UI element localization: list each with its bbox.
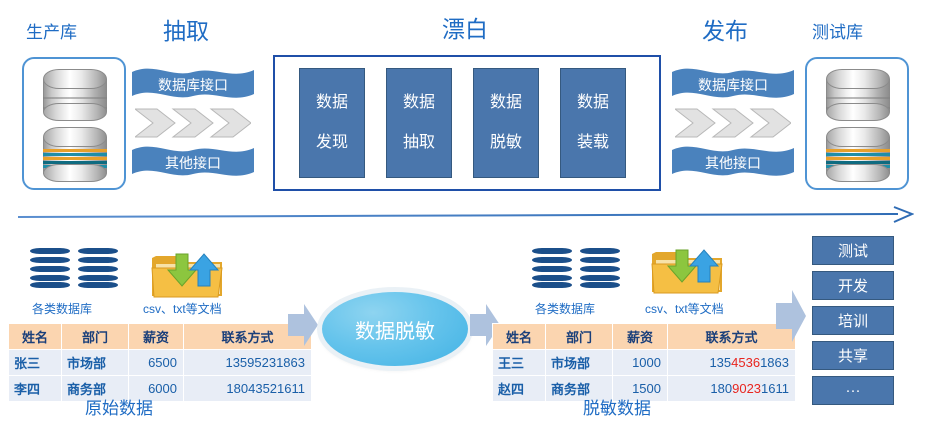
consumer-button-share[interactable]: 共享 [812, 341, 894, 370]
masked-phone-masked-1: 9023 [732, 381, 761, 396]
bleach-stage-extract[interactable]: 数据 抽取 [386, 68, 452, 178]
consumer-button-test[interactable]: 测试 [812, 236, 894, 265]
extract-db-interface-ribbon: 数据库接口 [132, 66, 254, 102]
masked-phone-prefix-1: 180 [710, 381, 732, 396]
test-database-cylinder-plain [826, 69, 890, 121]
source-caption: 原始数据 [85, 400, 153, 417]
arrow-into-masking [288, 304, 318, 346]
table-row: 李四 商务部 6000 18043521611 [9, 376, 312, 402]
masked-table-header-row: 姓名 部门 薪资 联系方式 [493, 324, 796, 350]
source-flat-db-icon-2 [78, 248, 118, 290]
source-th-dept: 部门 [62, 324, 129, 350]
title-production-db: 生产库 [26, 24, 77, 41]
publish-other-interface-ribbon: 其他接口 [672, 144, 794, 180]
source-th-salary: 薪资 [129, 324, 184, 350]
publish-db-interface-ribbon: 数据库接口 [672, 66, 794, 102]
source-cell-dept-1: 商务部 [62, 376, 129, 402]
source-file-label: csv、txt等文档 [143, 303, 222, 315]
source-cell-salary-0: 6500 [129, 350, 184, 376]
masked-phone-prefix-0: 135 [709, 355, 731, 370]
bleach-stage-discover-line1: 数据 [316, 93, 348, 113]
publish-other-interface-label: 其他接口 [672, 156, 794, 170]
source-th-name: 姓名 [9, 324, 62, 350]
bleach-stage-load-line2: 装载 [577, 133, 609, 153]
masked-cell-dept-0: 市场部 [546, 350, 613, 376]
masked-db-label: 各类数据库 [535, 303, 595, 315]
bleach-stage-mask-line2: 脱敏 [490, 133, 522, 153]
database-cylinder-banded [43, 127, 107, 182]
source-flat-db-icon-1 [30, 248, 70, 290]
bleach-stage-load-line1: 数据 [577, 93, 609, 113]
source-data-table: 姓名 部门 薪资 联系方式 张三 市场部 6500 13595231863 李四… [8, 323, 312, 402]
source-cell-salary-1: 6000 [129, 376, 184, 402]
production-db-container [22, 57, 126, 190]
masked-phone-suffix-1: 1611 [761, 381, 789, 396]
arrow-to-consumers [776, 290, 806, 342]
source-folder-icon [150, 248, 226, 300]
masked-cell-phone-0: 13545361863 [668, 350, 796, 376]
extract-other-interface-label: 其他接口 [132, 156, 254, 170]
masked-cell-name-0: 王三 [493, 350, 546, 376]
masked-file-label: csv、txt等文档 [645, 303, 724, 315]
bleach-stage-load[interactable]: 数据 装载 [560, 68, 626, 178]
masked-caption: 脱敏数据 [583, 400, 651, 417]
source-db-label: 各类数据库 [32, 303, 92, 315]
source-table-header-row: 姓名 部门 薪资 联系方式 [9, 324, 312, 350]
test-database-cylinder-banded [826, 127, 890, 182]
masked-cell-phone-1: 18090231611 [668, 376, 796, 402]
masked-cell-salary-1: 1500 [613, 376, 668, 402]
masked-cell-salary-0: 1000 [613, 350, 668, 376]
extract-db-interface-label: 数据库接口 [132, 78, 254, 92]
table-row: 赵四 商务部 1500 18090231611 [493, 376, 796, 402]
masked-flat-db-icon-2 [580, 248, 620, 290]
masked-cell-name-1: 赵四 [493, 376, 546, 402]
title-test-db: 测试库 [812, 24, 863, 41]
test-db-container [805, 57, 909, 190]
bleach-stage-discover[interactable]: 数据 发现 [299, 68, 365, 178]
source-cell-name-1: 李四 [9, 376, 62, 402]
masking-process-label: 数据脱敏 [355, 315, 435, 344]
publish-chevrons [675, 107, 791, 139]
publish-db-interface-label: 数据库接口 [672, 78, 794, 92]
masked-th-dept: 部门 [546, 324, 613, 350]
source-cell-name-0: 张三 [9, 350, 62, 376]
masked-phone-suffix-0: 1863 [760, 355, 789, 370]
title-bleach: 漂白 [442, 18, 488, 41]
consumer-button-dev[interactable]: 开发 [812, 271, 894, 300]
masked-flat-db-icon-1 [532, 248, 572, 290]
source-cell-phone-1: 18043521611 [184, 376, 312, 402]
bleach-stage-mask[interactable]: 数据 脱敏 [473, 68, 539, 178]
consumer-button-more[interactable]: ··· [812, 376, 894, 405]
masked-th-name: 姓名 [493, 324, 546, 350]
extract-other-interface-ribbon: 其他接口 [132, 144, 254, 180]
title-publish: 发布 [702, 20, 748, 43]
bleach-stage-extract-line1: 数据 [403, 93, 435, 113]
table-row: 张三 市场部 6500 13595231863 [9, 350, 312, 376]
bleach-stage-discover-line2: 发现 [316, 133, 348, 153]
table-row: 王三 市场部 1000 13545361863 [493, 350, 796, 376]
consumer-button-training[interactable]: 培训 [812, 306, 894, 335]
bleach-stage-mask-line1: 数据 [490, 93, 522, 113]
masked-data-table: 姓名 部门 薪资 联系方式 王三 市场部 1000 13545361863 赵四… [492, 323, 796, 402]
masked-folder-icon [650, 244, 726, 296]
source-cell-phone-0: 13595231863 [184, 350, 312, 376]
bleach-stage-extract-line2: 抽取 [403, 133, 435, 153]
extract-chevrons [135, 107, 251, 139]
masked-cell-dept-1: 商务部 [546, 376, 613, 402]
database-cylinder-plain [43, 69, 107, 121]
masking-process-oval: 数据脱敏 [322, 292, 468, 366]
source-cell-dept-0: 市场部 [62, 350, 129, 376]
flow-direction-arrow [18, 205, 914, 225]
masked-th-salary: 薪资 [613, 324, 668, 350]
title-extract: 抽取 [163, 20, 209, 43]
masked-phone-masked-0: 4536 [731, 355, 760, 370]
